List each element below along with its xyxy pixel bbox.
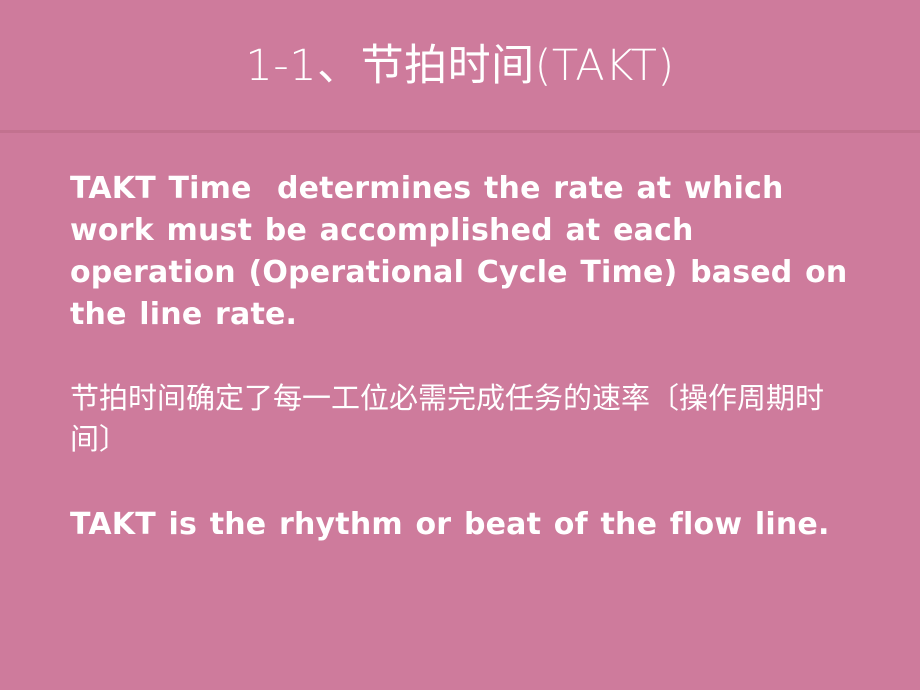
body-paragraph-chinese-translation: 节拍时间确定了每一工位必需完成任务的速率〔操作周期时间〕 <box>70 378 860 460</box>
title-divider <box>0 130 920 133</box>
body-paragraph-english-rhythm: TAKT is the rhythm or beat of the flow l… <box>70 504 860 546</box>
body-paragraph-english-definition: TAKT Time determines the rate at which w… <box>70 168 860 336</box>
slide-title-area: 1-1、节拍时间(TAKT) <box>0 0 920 130</box>
paragraph-spacer <box>70 460 860 504</box>
slide-body: TAKT Time determines the rate at which w… <box>70 168 860 546</box>
presentation-slide: 1-1、节拍时间(TAKT) TAKT Time determines the … <box>0 0 920 690</box>
paragraph-spacer <box>70 336 860 378</box>
page-title: 1-1、节拍时间(TAKT) <box>245 43 674 90</box>
